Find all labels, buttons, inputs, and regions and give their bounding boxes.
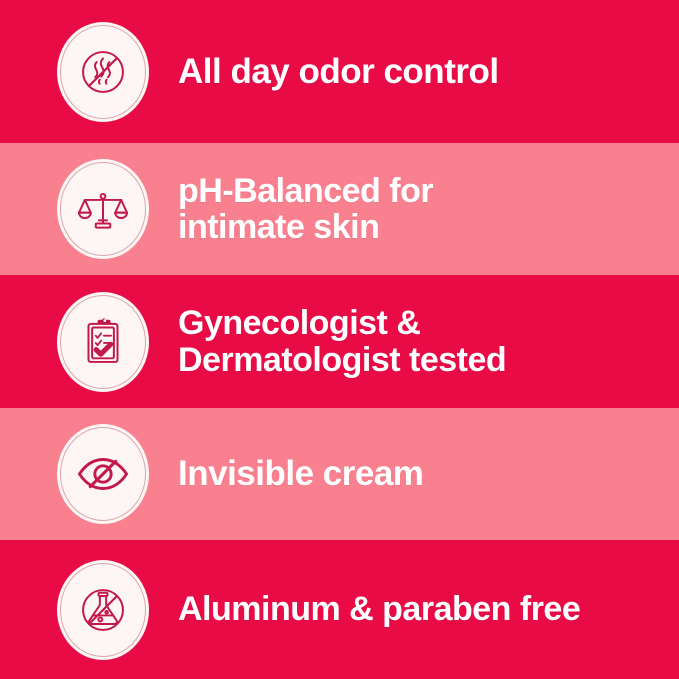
feature-row: Aluminum & paraben free xyxy=(0,540,679,679)
feature-label: Invisible cream xyxy=(178,455,423,492)
feature-label: pH-Balanced for intimate skin xyxy=(178,173,433,246)
clipboard-check-icon xyxy=(57,292,149,392)
eye-off-icon xyxy=(57,424,149,524)
feature-label: All day odor control xyxy=(178,53,499,90)
no-flask-icon xyxy=(57,560,149,660)
no-odor-icon xyxy=(57,22,149,122)
feature-label: Aluminum & paraben free xyxy=(178,591,580,627)
balance-scale-icon xyxy=(57,159,149,259)
feature-row: Invisible cream xyxy=(0,408,679,540)
feature-row: All day odor control xyxy=(0,0,679,143)
feature-label: Gynecologist & Dermatologist tested xyxy=(178,305,506,378)
feature-row: pH-Balanced for intimate skin xyxy=(0,143,679,275)
product-benefits-banner: All day odor control pH xyxy=(0,0,679,679)
feature-row: Gynecologist & Dermatologist tested xyxy=(0,275,679,408)
